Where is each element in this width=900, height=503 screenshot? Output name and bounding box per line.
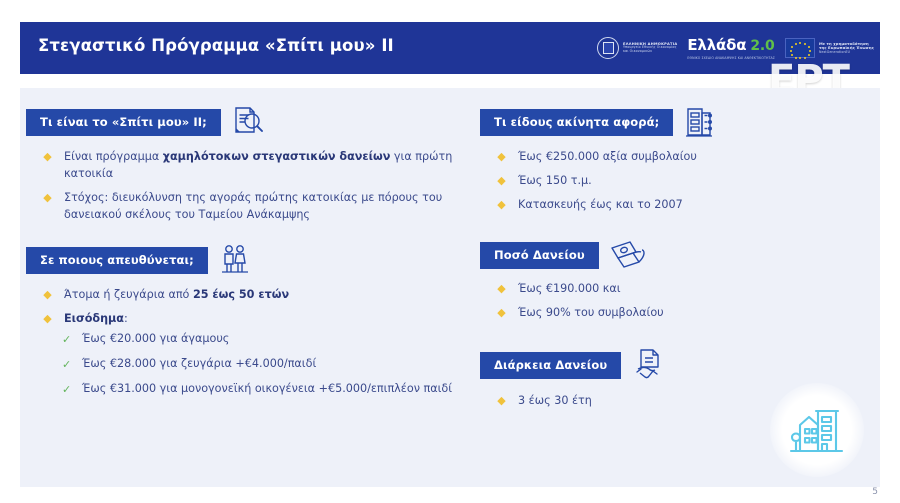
banknotes-icon bbox=[609, 239, 649, 271]
left-column: Τι είναι το «Σπίτι μου» ΙΙ; bbox=[26, 88, 456, 405]
diamond-bullet-icon: ◆ bbox=[497, 284, 506, 293]
hellenic-republic-logo: ΕΛΛΗΝΙΚΗ ΔΗΜΟΚΡΑΤΙΑ Υπουργείο Εθνικής Οι… bbox=[597, 37, 677, 59]
buildings-illustration-icon bbox=[770, 383, 864, 477]
family-people-icon bbox=[218, 243, 252, 277]
building-icon bbox=[683, 105, 715, 139]
eu-line3: NextGenerationEU bbox=[819, 51, 874, 55]
bullet-text-part: Έως €250.000 αξία συμβολαίου bbox=[518, 150, 697, 163]
bullet-text-part: Έως €190.000 και bbox=[518, 282, 621, 295]
hellenic-republic-text: ΕΛΛΗΝΙΚΗ ΔΗΜΟΚΡΑΤΙΑ Υπουργείο Εθνικής Οι… bbox=[623, 42, 677, 53]
slide-header-bar: Στεγαστικό Πρόγραμμα «Σπίτι μου» ΙΙ ΕΛΛΗ… bbox=[20, 22, 880, 74]
section-property-types: Τι είδους ακίνητα αφορά; bbox=[480, 105, 874, 213]
diamond-bullet-icon: ◆ bbox=[497, 308, 506, 317]
list-item: ✓ Έως €31.000 για μονογονεϊκή οικογένεια… bbox=[26, 381, 456, 398]
document-magnifier-icon bbox=[231, 105, 265, 139]
ellada-word: Ελλάδα bbox=[687, 36, 746, 54]
bullet-text-part: 3 έως 30 έτη bbox=[518, 394, 592, 407]
bullet-list-what-is-it: ◆ Είναι πρόγραμμα χαμηλότοκων στεγαστικώ… bbox=[26, 148, 456, 223]
bullet-text-part: Στόχος: διευκόλυνση της αγοράς πρώτης κα… bbox=[64, 191, 442, 221]
list-item: ◆ Άτομα ή ζευγάρια από 25 έως 50 ετών bbox=[26, 286, 456, 303]
diamond-bullet-icon: ◆ bbox=[43, 152, 52, 161]
logo-strip: ΕΛΛΗΝΙΚΗ ΔΗΜΟΚΡΑΤΙΑ Υπουργείο Εθνικής Οι… bbox=[597, 29, 874, 67]
list-item: ◆ Έως 90% του συμβολαίου bbox=[480, 304, 874, 321]
slide: Στεγαστικό Πρόγραμμα «Σπίτι μου» ΙΙ ΕΛΛΗ… bbox=[0, 0, 900, 503]
bullet-list-loan-amount: ◆ Έως €190.000 και ◆ Έως 90% του συμβολα… bbox=[480, 280, 874, 321]
check-icon: ✓ bbox=[62, 332, 71, 349]
right-column: Τι είδους ακίνητα αφορά; bbox=[480, 88, 874, 416]
bullet-text-part-bold: Εισόδημα bbox=[64, 312, 124, 325]
section-what-is-it: Τι είναι το «Σπίτι μου» ΙΙ; bbox=[26, 105, 456, 223]
page-number: 5 bbox=[872, 487, 878, 497]
diamond-bullet-icon: ◆ bbox=[497, 152, 506, 161]
list-item: ◆ Έως €190.000 και bbox=[480, 280, 874, 297]
diamond-bullet-icon: ◆ bbox=[497, 396, 506, 405]
ellada-2-0-logo: Ελλάδα 2.0 ΕΘΝΙΚΟ ΣΧΕΔΙΟ ΑΝΑΚΑΜΨΗΣ ΚΑΙ Α… bbox=[687, 36, 775, 60]
bullet-text-part: Άτομα ή ζευγάρια από bbox=[64, 288, 193, 301]
bullet-text-part-bold: 25 έως 50 ετών bbox=[193, 288, 289, 301]
greek-coat-of-arms-icon bbox=[597, 37, 619, 59]
contract-handshake-icon bbox=[631, 347, 667, 383]
section-heading-who-is-it-for: Σε ποιους απευθύνεται; bbox=[26, 247, 208, 274]
bullet-text-part: Κατασκευής έως και το 2007 bbox=[518, 198, 683, 211]
check-icon: ✓ bbox=[62, 357, 71, 374]
bullet-list-property-types: ◆ Έως €250.000 αξία συμβολαίου ◆ Έως 150… bbox=[480, 148, 874, 213]
list-item: ◆ Στόχος: διευκόλυνση της αγοράς πρώτης … bbox=[26, 189, 456, 223]
section-heading-what-is-it: Τι είναι το «Σπίτι μου» ΙΙ; bbox=[26, 109, 221, 136]
slide-content-panel: Τι είναι το «Σπίτι μου» ΙΙ; bbox=[20, 88, 880, 487]
bullet-text-part-bold: χαμηλότοκων στεγαστικών δανείων bbox=[163, 150, 391, 163]
diamond-bullet-icon: ◆ bbox=[43, 314, 52, 323]
list-item: ◆ Έως €250.000 αξία συμβολαίου bbox=[480, 148, 874, 165]
list-item: ◆ Είναι πρόγραμμα χαμηλότοκων στεγαστικώ… bbox=[26, 148, 456, 182]
diamond-bullet-icon: ◆ bbox=[43, 290, 52, 299]
page-title: Στεγαστικό Πρόγραμμα «Σπίτι μου» ΙΙ bbox=[38, 36, 394, 55]
section-who-is-it-for: Σε ποιους απευθύνεται; bbox=[26, 243, 456, 397]
checklist-text: Έως €28.000 για ζευγάρια +€4.000/παιδί bbox=[82, 357, 316, 370]
ellada-subtitle: ΕΘΝΙΚΟ ΣΧΕΔΙΟ ΑΝΑΚΑΜΨΗΣ ΚΑΙ ΑΝΘΕΚΤΙΚΟΤΗΤ… bbox=[687, 56, 775, 60]
eu-funding-text: Με τη χρηματοδότηση της Ευρωπαϊκής Ένωση… bbox=[819, 42, 874, 54]
list-item: ✓ Έως €20.000 για άγαμους bbox=[26, 331, 456, 348]
diamond-bullet-icon: ◆ bbox=[497, 176, 506, 185]
checklist-income: ✓ Έως €20.000 για άγαμους ✓ Έως €28.000 … bbox=[26, 331, 456, 397]
checklist-text: Έως €31.000 για μονογονεϊκή οικογένεια +… bbox=[82, 382, 452, 395]
eu-flag-icon bbox=[785, 38, 815, 58]
list-item: ◆ Εισόδημα: bbox=[26, 310, 456, 327]
section-heading-loan-duration: Διάρκεια Δανείου bbox=[480, 352, 621, 379]
section-heading-loan-amount: Ποσό Δανείου bbox=[480, 242, 599, 269]
list-item: ◆ Έως 150 τ.μ. bbox=[480, 172, 874, 189]
european-union-funding-logo: Με τη χρηματοδότηση της Ευρωπαϊκής Ένωση… bbox=[785, 38, 874, 58]
diamond-bullet-icon: ◆ bbox=[497, 200, 506, 209]
list-item: ◆ Κατασκευής έως και το 2007 bbox=[480, 196, 874, 213]
section-loan-amount: Ποσό Δανείου ◆ Έως €190. bbox=[480, 239, 874, 321]
bullet-text-part: Έως 150 τ.μ. bbox=[518, 174, 592, 187]
list-item: ✓ Έως €28.000 για ζευγάρια +€4.000/παιδί bbox=[26, 356, 456, 373]
bullet-text-part: Έως 90% του συμβολαίου bbox=[518, 306, 664, 319]
diamond-bullet-icon: ◆ bbox=[43, 193, 52, 202]
bullet-text-part: Είναι πρόγραμμα bbox=[64, 150, 163, 163]
ellada-version: 2.0 bbox=[750, 38, 774, 54]
check-icon: ✓ bbox=[62, 382, 71, 399]
bullet-list-who-is-it-for: ◆ Άτομα ή ζευγάρια από 25 έως 50 ετών ◆ … bbox=[26, 286, 456, 327]
ministry-line3: και Οικονομικών bbox=[623, 50, 677, 54]
bullet-text-part: : bbox=[124, 312, 128, 325]
section-heading-property-types: Τι είδους ακίνητα αφορά; bbox=[480, 109, 673, 136]
checklist-text: Έως €20.000 για άγαμους bbox=[82, 332, 229, 345]
